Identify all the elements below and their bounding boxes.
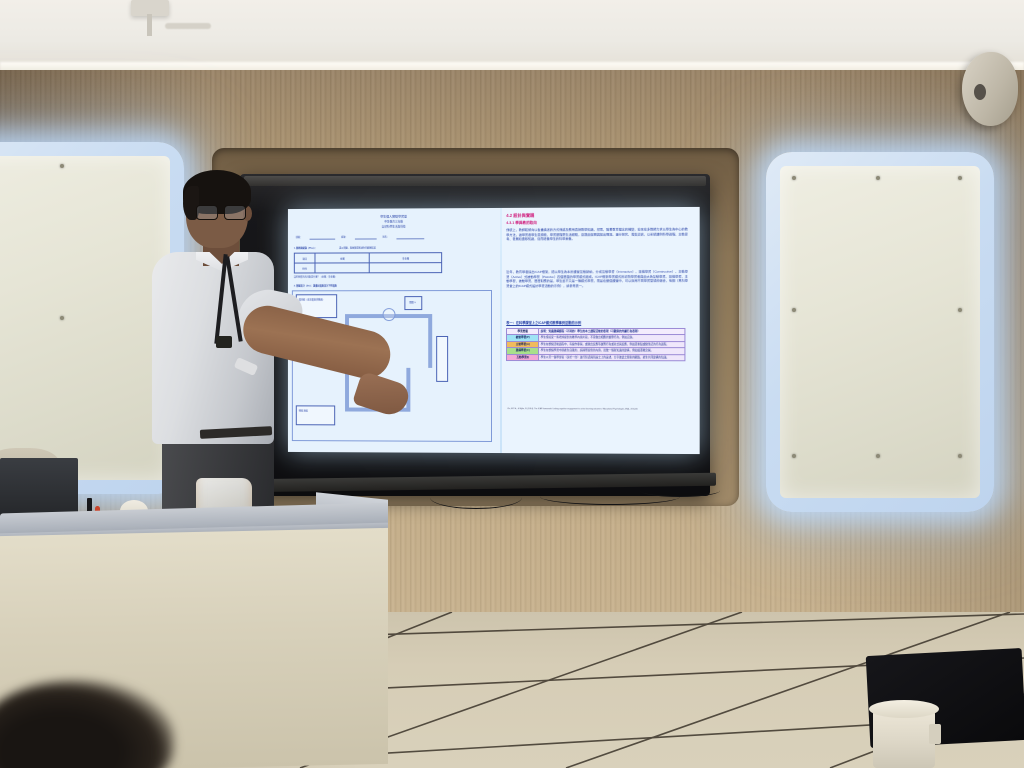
dispenser-handle[interactable] (929, 724, 941, 744)
section-heading: 4.2 設計與實踐 (506, 213, 534, 219)
row-label-interactive: 互動學習(I) (507, 354, 539, 360)
field-name: 姓名： (383, 234, 389, 238)
glass-surface-right (780, 166, 980, 498)
display-cable-1 (430, 486, 522, 509)
body-paragraph-1: 傳統上，教師較傾向以板書講述的方式傳遞及應用直接教學知識，然而，隨著教育理念的轉… (506, 227, 688, 242)
display-top-bar (244, 176, 706, 186)
lecture-room-photo: 學生個人實驗學習單 中等教育三年級 自然科學生活與科技 班級： 座號： 姓名： … (0, 0, 1024, 768)
wall-speaker (962, 52, 1018, 126)
worksheet-title-3: 自然科學生活與科技 (288, 224, 500, 229)
th-metal: 金屬 (315, 253, 370, 263)
dispenser-lid (869, 700, 939, 718)
diagram-lamp-icon (383, 308, 396, 321)
worksheet-table-1: 項目 金屬 非金屬 特性 (294, 252, 442, 273)
q1-label: 1. 觀察與紀錄（Plan）： (294, 246, 317, 250)
tr-cell-nonmetal (370, 263, 442, 273)
projector-mount-stem (147, 14, 152, 36)
eyeglasses-icon (196, 205, 244, 218)
row-desc-interactive: 學生以另一個學習者（多於一位）進行對話與辯論之上的論述，分享彼此之間新的觀點，產… (539, 354, 686, 361)
display-cable-3 (640, 484, 720, 497)
lanyard-badge (216, 336, 232, 348)
body-paragraph-2: 近年，教育學者提出ICAP框架，把以學生為本的課堂互動歸納，分成互動學習（Int… (506, 269, 688, 288)
tr-label: 特性 (294, 263, 315, 273)
glass-surface-left (0, 156, 170, 480)
table-row: 互動學習(I) 學生以另一個學習者（多於一位）進行對話與辯論之上的論述，分享彼此… (507, 354, 686, 361)
tr-cell-metal (315, 263, 370, 273)
icap-table: 學習層級 說明：知識建構歷程（不同的）學生的本土課程活動的表現（可觀察的外顯行為… (506, 328, 686, 361)
th-nonmetal: 非金屬 (370, 253, 442, 263)
table-caption: 表一：在科學課堂上之ICAP模式教學事例活動的示例 (506, 320, 581, 325)
field-class: 班級： (296, 235, 302, 239)
q2-label: 2. 實驗設計（Do）：請畫出電路設計下列電路 (294, 283, 337, 287)
field-seat: 座號： (341, 235, 347, 239)
q1-text: 請以問題、現象簡單敘述你的觀察結果 (339, 245, 376, 249)
worksheet-note-1: 這些物質的共同點是什麼？（金屬／非金屬） (294, 274, 337, 278)
slide-right-page: 4.2 設計與實踐 4.3.1 學與教的取向 傳統上，教師較傾向以板書講述的方式… (502, 207, 699, 454)
ceiling-linear-light (165, 23, 211, 29)
diagram-switch-box: 開關 S (404, 296, 422, 310)
reference-citation: Chi, M.T.H., & Wylie, R. (2014). The ICA… (507, 408, 685, 411)
backlit-glass-whiteboard-right[interactable] (766, 152, 994, 512)
speaker-cone-icon (974, 84, 986, 100)
th-item: 項目 (294, 253, 315, 263)
diagram-sample-holder (436, 336, 448, 382)
diagram-callout-2: 導線 連接 (296, 405, 335, 425)
subsection-heading: 4.3.1 學與教的取向 (506, 221, 537, 226)
